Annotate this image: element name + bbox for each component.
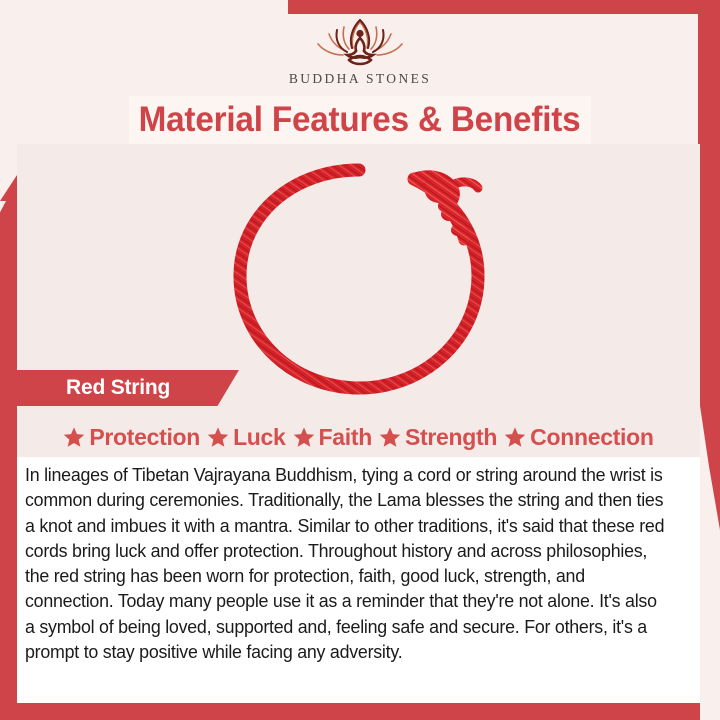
star-icon (504, 426, 526, 448)
product-name-banner: Red String (0, 370, 239, 406)
frame-border-top (288, 0, 720, 14)
frame-border-left (0, 180, 17, 720)
benefit-keywords-row: Protection Luck Faith Strength Connectio… (17, 418, 700, 456)
keyword-faith: Faith (293, 424, 372, 451)
frame-border-bottom (0, 703, 700, 720)
keyword-luck: Luck (207, 424, 285, 451)
keyword-label: Strength (405, 424, 497, 451)
description-text: In lineages of Tibetan Vajrayana Buddhis… (25, 463, 666, 665)
star-icon (293, 426, 315, 448)
product-name-label: Red String (66, 376, 170, 400)
brand-wordmark: BUDDHA STONES (289, 71, 431, 87)
keyword-label: Protection (89, 424, 200, 451)
red-braided-string-bracelet-image (228, 160, 490, 400)
keyword-label: Connection (530, 424, 654, 451)
keyword-label: Faith (319, 424, 372, 451)
product-infographic: BUDDHA STONES Material Features & Benefi… (0, 0, 720, 720)
keyword-connection: Connection (504, 424, 654, 451)
lotus-meditation-figure-icon (306, 14, 414, 70)
keyword-protection: Protection (63, 424, 200, 451)
product-image-area (17, 144, 700, 458)
keyword-label: Luck (233, 424, 285, 451)
star-icon (207, 426, 229, 448)
keyword-strength: Strength (379, 424, 497, 451)
title-band: Material Features & Benefits (129, 96, 591, 144)
star-icon (63, 426, 85, 448)
brand-logo: BUDDHA STONES (0, 14, 720, 96)
star-icon (379, 426, 401, 448)
description-panel: In lineages of Tibetan Vajrayana Buddhis… (17, 457, 700, 703)
page-title: Material Features & Benefits (139, 100, 581, 140)
